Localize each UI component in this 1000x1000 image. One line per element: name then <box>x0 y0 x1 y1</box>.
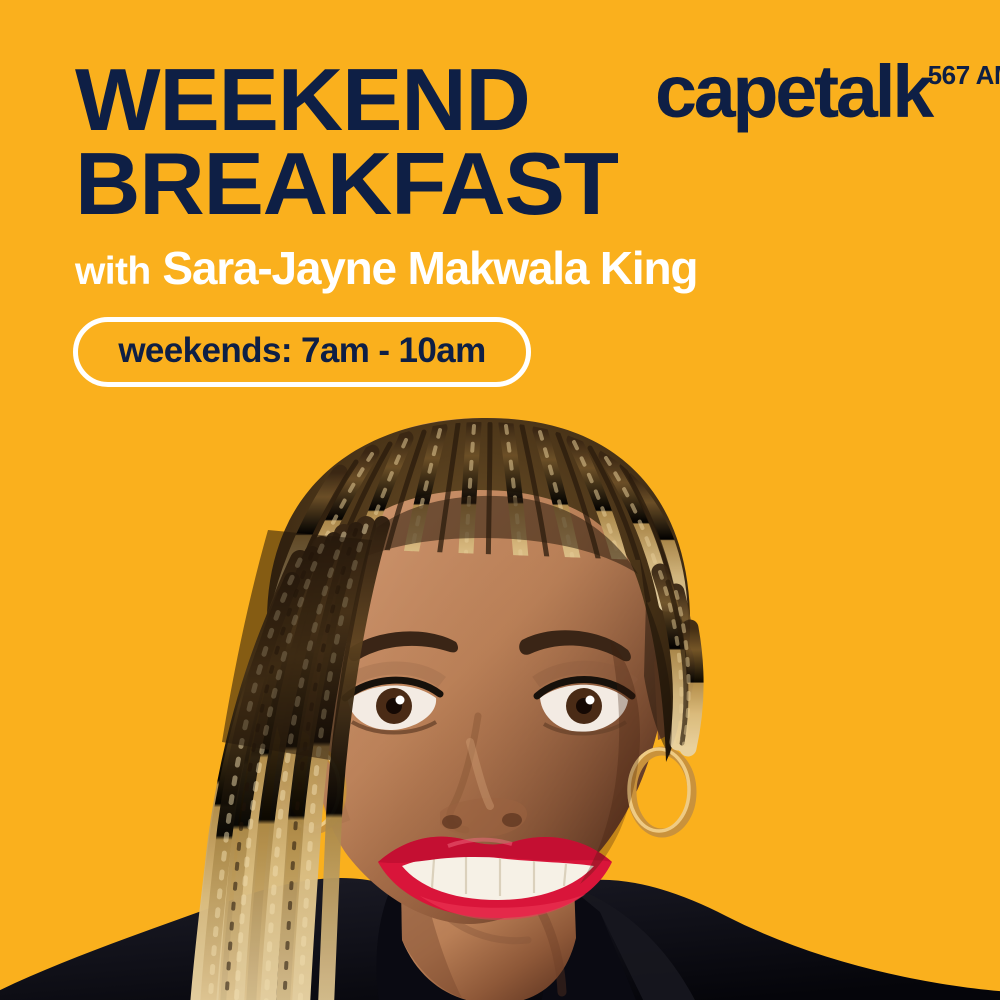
headline-line-2: BREAKFAST <box>75 142 618 226</box>
page-title: WEEKEND BREAKFAST <box>75 58 602 226</box>
show-host-subtitle: with Sara-Jayne Makwala King <box>75 245 697 291</box>
logo-wordmark: capetalk <box>655 62 931 123</box>
host-name: Sara-Jayne Makwala King <box>162 242 697 294</box>
hair-crown <box>267 418 690 776</box>
capetalk-logo[interactable]: capetalk 567 AM <box>655 62 1000 123</box>
earrings <box>284 750 692 833</box>
eyes <box>344 667 634 733</box>
nose <box>440 716 527 837</box>
face-shading <box>324 640 640 884</box>
mouth <box>378 837 612 920</box>
broadcast-time-text: weekends: 7am - 10am <box>118 331 485 371</box>
face <box>279 418 695 924</box>
neck <box>400 826 576 1000</box>
subtitle-prefix: with <box>75 250 151 293</box>
eyebrows <box>348 630 630 661</box>
hair-braids-left <box>200 524 382 1000</box>
hair-braids-right <box>644 572 695 756</box>
blazer <box>0 878 1000 1000</box>
headline-line-1: WEEKEND <box>75 58 618 142</box>
broadcast-time-badge: weekends: 7am - 10am <box>73 317 531 387</box>
poster-canvas: capetalk 567 AM WEEKEND BREAKFAST with S… <box>0 0 1000 1000</box>
logo-frequency: 567 AM <box>928 60 1000 91</box>
